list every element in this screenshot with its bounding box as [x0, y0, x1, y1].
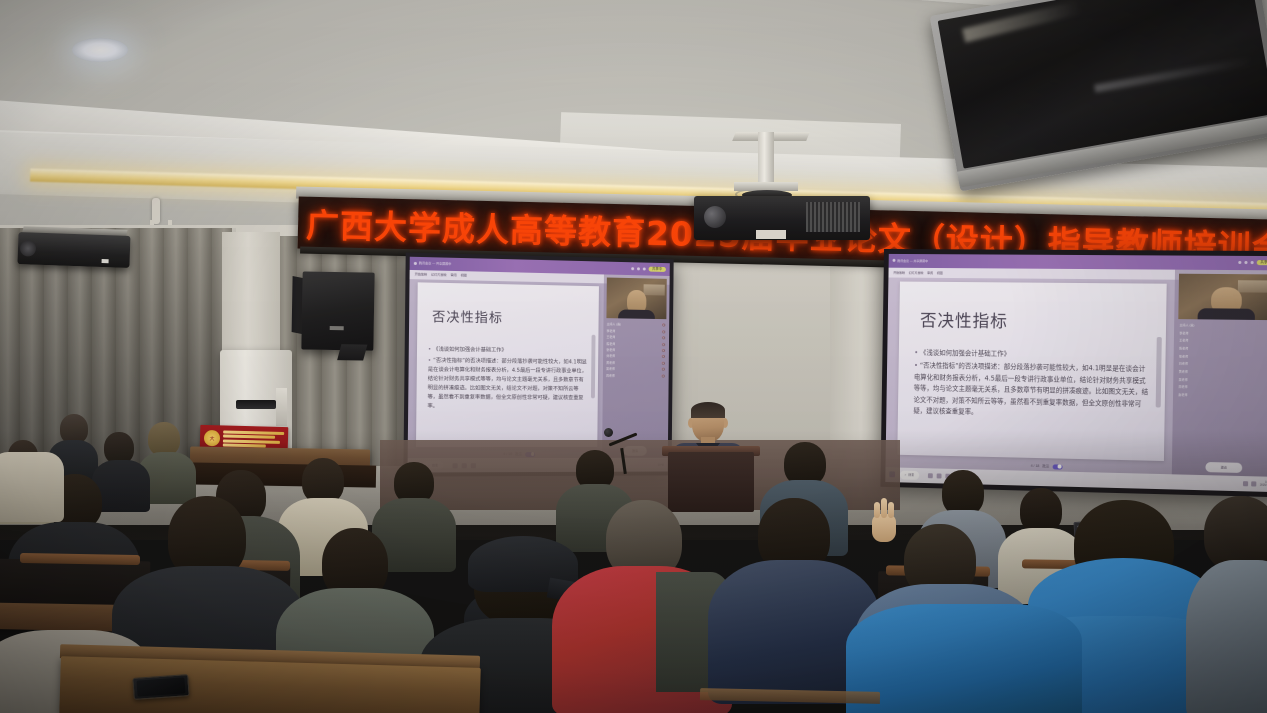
audience-person — [556, 500, 726, 710]
list-item: 黄老师🔇 — [606, 361, 665, 366]
slide-scrollbar-right[interactable] — [1155, 337, 1162, 408]
mic-icon: 🔇 — [662, 355, 666, 359]
projector-left-label — [102, 259, 109, 263]
participant-name: 黄老师 — [1179, 369, 1188, 373]
speaker-body — [301, 271, 374, 350]
list-item: 吴老师🔇 — [606, 367, 665, 372]
mic-icon: 🔇 — [662, 336, 666, 340]
smartphone-screen — [137, 677, 186, 696]
slide-bullet-0: 《浅谈如何加强会计基础工作》 — [914, 348, 1149, 363]
participant-name: 李老师 — [1179, 331, 1188, 335]
slide-bullet-0: 《浅谈如何加强会计基础工作》 — [428, 345, 587, 356]
list-item: 黄老师🔇 — [1179, 369, 1267, 375]
presenter-hair — [691, 402, 725, 418]
downlight-icon — [72, 38, 128, 62]
webcam-person-body — [1197, 308, 1255, 320]
participant-name: 张老师 — [606, 348, 615, 352]
mic-icon: 🔇 — [662, 330, 666, 334]
share-status-pill-right: 共享中 — [1256, 261, 1267, 266]
list-item: 周老师🔇 — [606, 373, 665, 378]
list-item: 王老师🔇 — [1179, 339, 1267, 344]
participant-list: 主持人 (我)🔇 李老师🔇 王老师🔇 陈老师🔇 张老师🔇 刘老师🔇 黄老师🔇 吴… — [606, 322, 666, 380]
participant-name: 王老师 — [606, 335, 615, 339]
webcam-background-shelf — [644, 284, 665, 295]
titlebar-dot-icon — [893, 259, 896, 262]
toolbar-item-2[interactable]: 审阅 — [451, 273, 457, 277]
list-item: 主持人 (我)🔇 — [607, 322, 666, 327]
participant-name: 刘老师 — [1179, 362, 1188, 366]
mic-icon: 🔇 — [662, 323, 666, 327]
list-item: 刘老师🔇 — [1179, 362, 1267, 367]
toolbar-item-3[interactable]: 视图 — [461, 274, 467, 278]
list-item: 吴老师🔇 — [1179, 377, 1267, 383]
wall-speaker — [291, 267, 374, 354]
titlebar-close-icon[interactable] — [1250, 261, 1253, 264]
audience-person — [846, 604, 1076, 713]
speaker-bracket — [337, 344, 367, 360]
list-item: 李老师🔇 — [607, 329, 666, 334]
webcam-tile — [606, 278, 667, 320]
share-status-pill: 共享中 — [648, 266, 666, 271]
participant-name: 主持人 (我) — [607, 322, 621, 326]
projector-center — [700, 132, 870, 237]
mic-icon: 🔇 — [662, 368, 666, 372]
list-item: 张老师🔇 — [1179, 354, 1267, 359]
person-hat — [148, 422, 180, 456]
mic-icon: 🔇 — [662, 374, 666, 378]
microphone-icon — [604, 428, 613, 437]
webcam-tile-right — [1178, 274, 1267, 320]
plaque-text-lines — [223, 430, 284, 448]
toolbar-item-3[interactable]: 视图 — [937, 271, 943, 275]
toolbar-item-1[interactable]: 幻灯片放映 — [909, 271, 924, 275]
titlebar-maximize-icon[interactable] — [637, 267, 640, 270]
mic-icon: 🔇 — [662, 342, 666, 346]
hand-finger — [874, 502, 880, 518]
projector-lens-icon — [704, 206, 726, 228]
slide-left: 否决性指标 《浅谈如何加强会计基础工作》 “否决性指标”的否决项描述：部分段落抄… — [416, 283, 599, 447]
smartphone[interactable] — [132, 674, 189, 700]
slide-scrollbar[interactable] — [591, 335, 595, 399]
participant-name: 张老师 — [1179, 354, 1188, 358]
toolbar-item-1[interactable]: 幻灯片放映 — [431, 273, 446, 277]
toolbar-item-0[interactable]: 开始放映 — [415, 273, 427, 277]
slide-title: 否决性指标 — [432, 306, 503, 326]
audience-person — [1190, 496, 1267, 713]
slide-bullet-1: “否决性指标”的否决项描述：部分段落抄袭可能性较大，如4.1明显是在谈会计电算化… — [427, 356, 587, 412]
participant-name: 主持人 (我) — [1179, 323, 1194, 327]
person-torso — [1186, 560, 1267, 713]
plaque-line-2 — [223, 435, 276, 439]
participant-name: 陈老师 — [1179, 346, 1188, 350]
meeting-titlebar-label-right: 腾讯会议 — 共享屏幕中 — [897, 259, 928, 263]
meeting-titlebar-label: 腾讯会议 — 共享屏幕中 — [419, 261, 451, 266]
slide-bullet-1: “否决性指标”的否决项描述：部分段落抄袭可能性较大，如4.1明显是在谈会计电算化… — [913, 361, 1149, 423]
participant-name: 吴老师 — [1179, 377, 1188, 381]
hand-finger — [881, 498, 887, 518]
list-item: 陈老师🔇 — [1179, 346, 1267, 351]
list-item: 陈老师🔇 — [606, 341, 665, 346]
participant-list-right: 主持人 (我)🔇 李老师🔇 王老师🔇 陈老师🔇 张老师🔇 刘老师🔇 黄老师🔇 吴… — [1178, 323, 1267, 402]
air-conditioner-vent — [236, 400, 276, 409]
person-torso — [846, 604, 1082, 713]
hand-finger — [888, 502, 894, 518]
list-item: 刘老师🔇 — [606, 354, 665, 359]
conference-room-photo: 广西大学成人高等教育2025届毕业论文（设计）指导教师培训会 — [0, 0, 1267, 713]
participant-name: 周老师 — [606, 373, 615, 377]
webcam-person-body — [618, 309, 654, 320]
list-item: 主持人 (我)🔇 — [1179, 323, 1267, 328]
mic-icon: 🔇 — [662, 361, 666, 365]
titlebar-minimize-icon[interactable] — [631, 267, 634, 270]
list-item: 周老师🔇 — [1178, 385, 1267, 391]
titlebar-minimize-icon[interactable] — [1238, 261, 1241, 264]
speaker-logo — [330, 326, 344, 330]
projector-label — [756, 230, 786, 239]
slide-body-right: 《浅谈如何加强会计基础工作》 “否决性指标”的否决项描述：部分段落抄袭可能性较大… — [913, 348, 1149, 425]
list-item: 王老师🔇 — [606, 335, 665, 340]
toolbar-item-0[interactable]: 开始放映 — [893, 271, 905, 275]
participant-name: 李老师 — [607, 329, 616, 333]
university-seal-icon: 大 — [204, 430, 220, 446]
titlebar-maximize-icon[interactable] — [1244, 261, 1247, 264]
list-item: 李老师🔇 — [1179, 331, 1267, 336]
participant-name: 黄老师 — [606, 361, 615, 365]
toolbar-item-2[interactable]: 审阅 — [927, 271, 933, 275]
slide-body: 《浅谈如何加强会计基础工作》 “否决性指标”的否决项描述：部分段落抄袭可能性较大… — [427, 345, 587, 414]
participant-name: 吴老师 — [606, 367, 615, 371]
audience-person — [0, 452, 64, 522]
projector-vent-grill — [806, 202, 860, 232]
projector-mount-pole — [758, 132, 774, 188]
list-item: 赵老师🔇 — [1178, 393, 1267, 399]
projector-left — [17, 226, 130, 272]
webcam-background-shelf — [1238, 280, 1267, 292]
air-conditioner-panel — [276, 388, 287, 426]
participant-name: 刘老师 — [606, 354, 615, 358]
list-item: 张老师🔇 — [606, 348, 665, 353]
titlebar-close-icon[interactable] — [642, 267, 645, 270]
slide-title-right: 否决性指标 — [920, 306, 1008, 332]
participant-name: 陈老师 — [606, 341, 615, 345]
mic-icon: 🔇 — [662, 349, 666, 353]
participant-name: 赵老师 — [1178, 393, 1187, 397]
participant-name: 周老师 — [1178, 385, 1187, 389]
participant-name: 王老师 — [1179, 339, 1188, 343]
titlebar-dot-icon — [414, 262, 417, 265]
